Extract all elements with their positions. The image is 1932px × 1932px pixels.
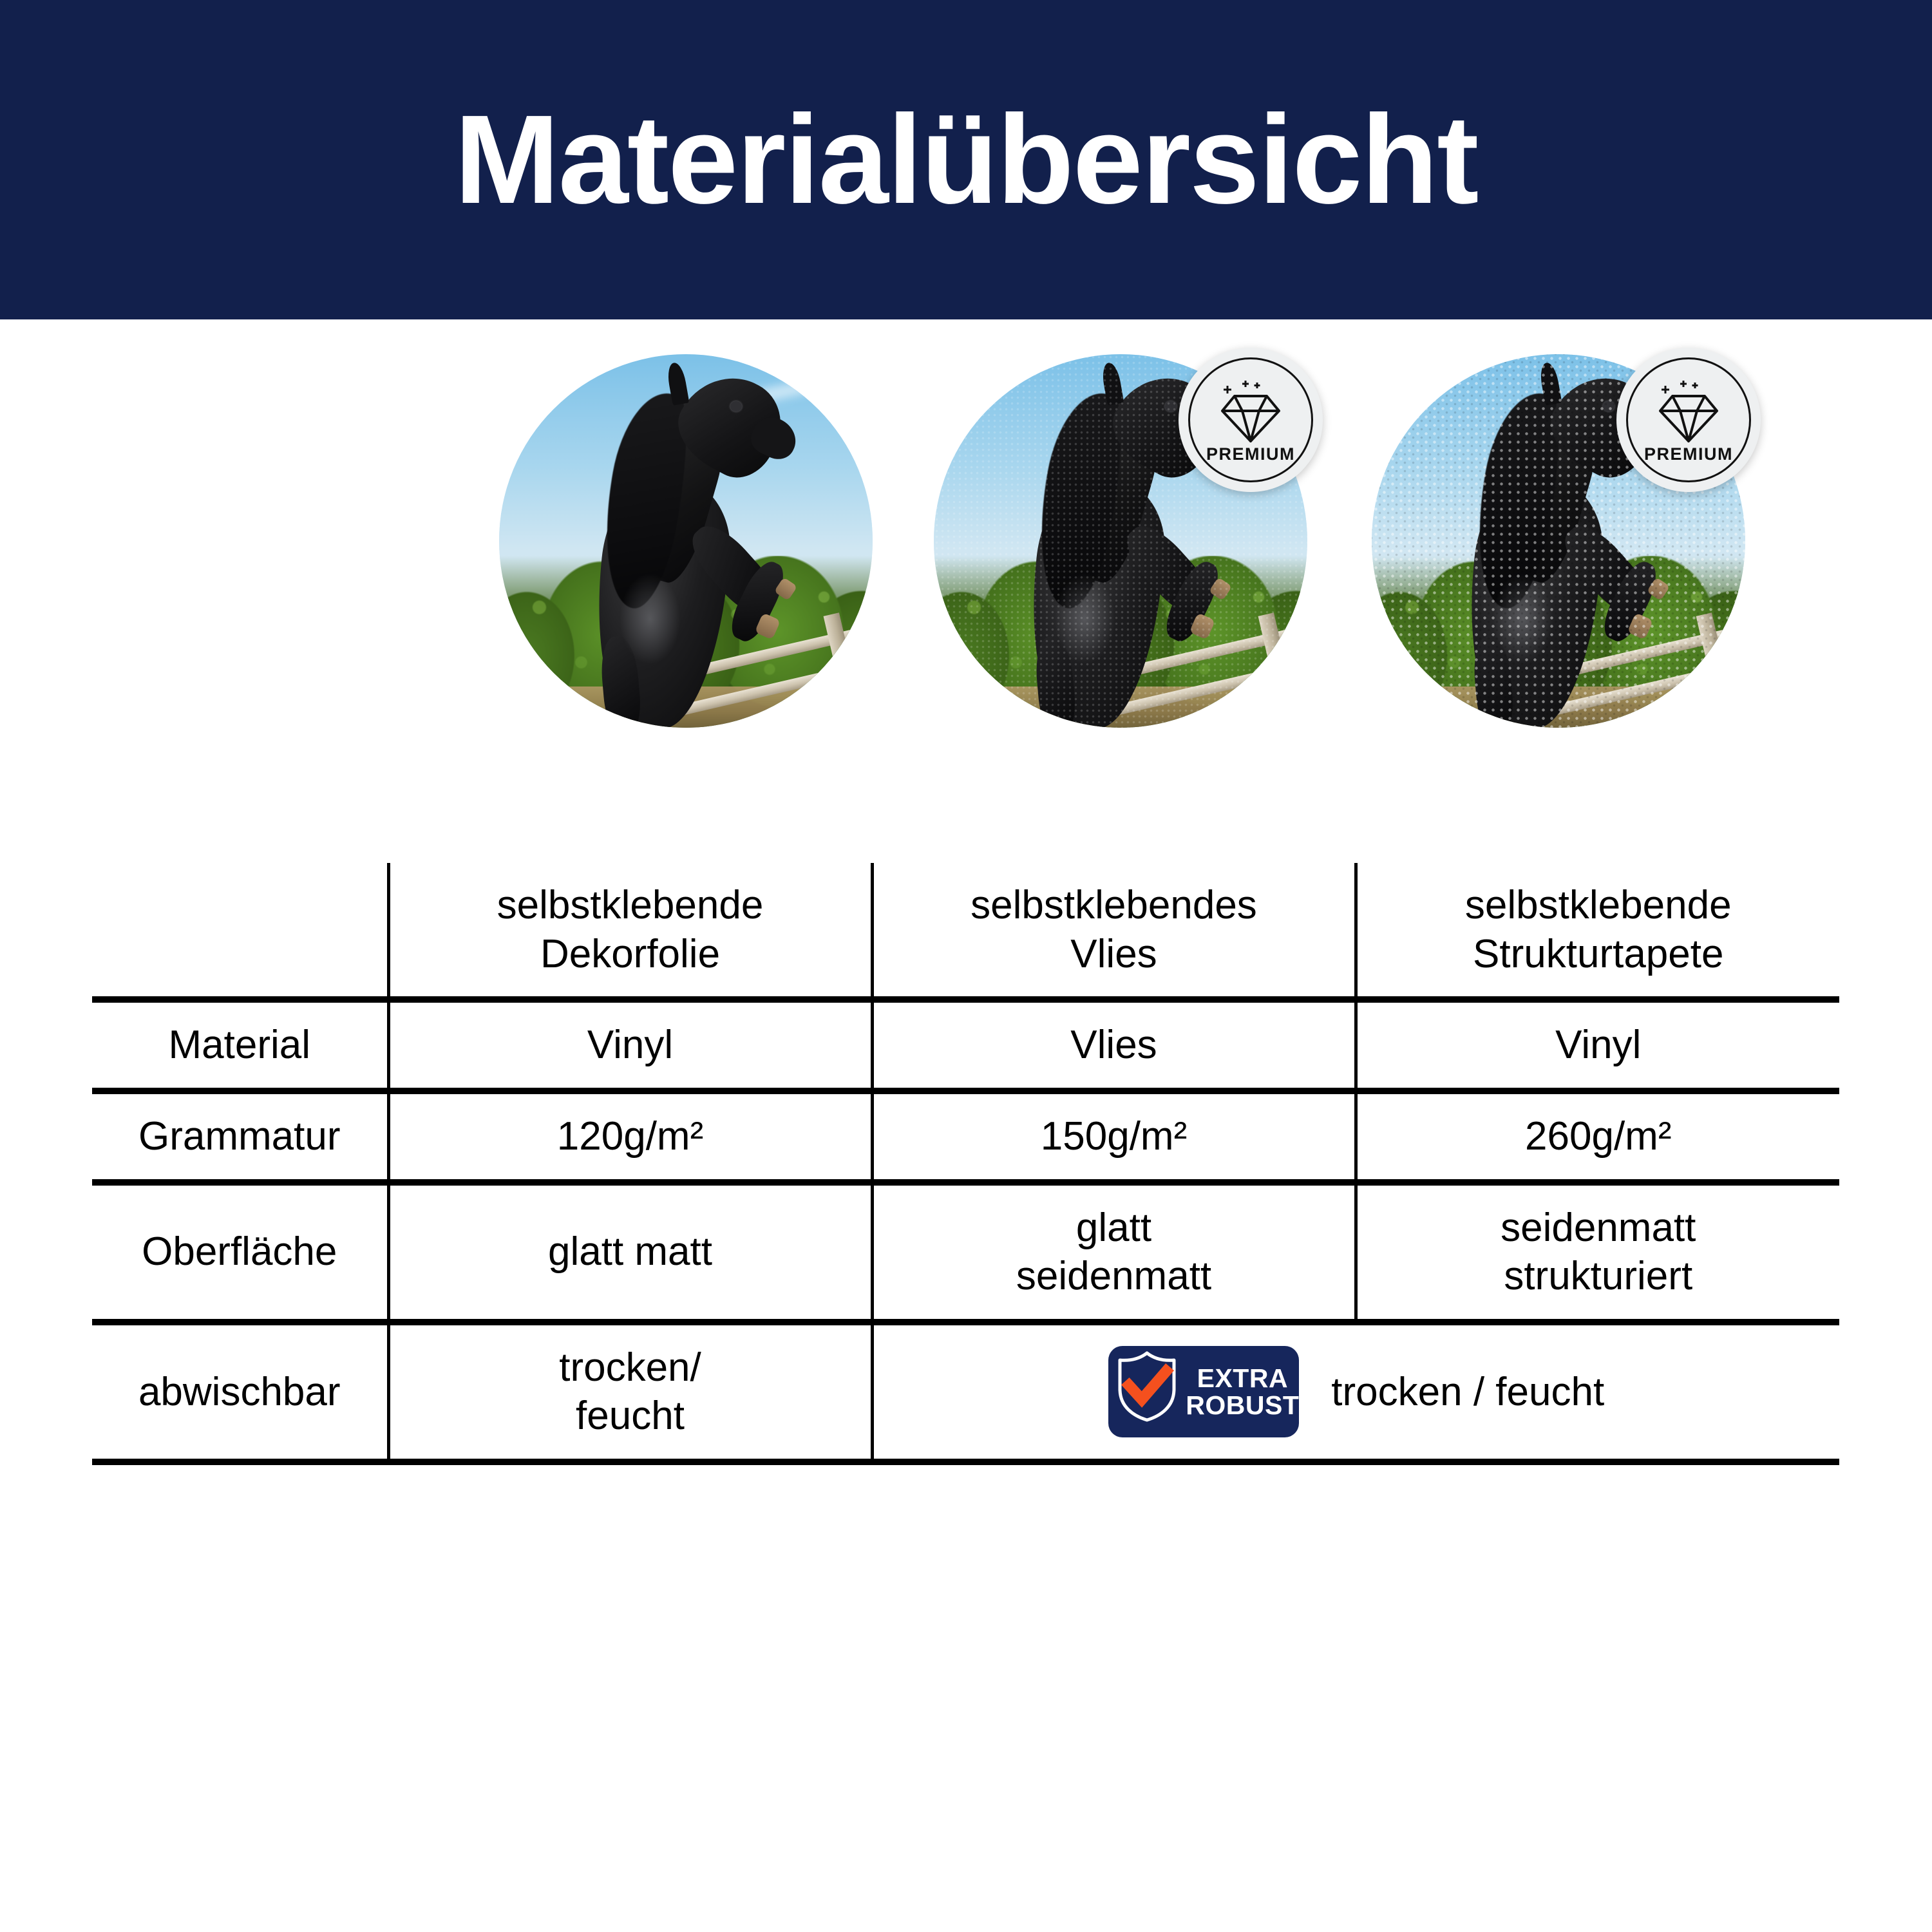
column-header-strukturtapete: selbstklebende Strukturtapete (1356, 863, 1839, 999)
table-row-grammatur: Grammatur 120g/m² 150g/m² 260g/m² (92, 1091, 1839, 1182)
cell-line: strukturiert (1369, 1252, 1828, 1301)
diamond-icon (1653, 377, 1725, 444)
cell-line: trocken/ (402, 1343, 859, 1392)
material-spec-table: selbstklebende Dekorfolie selbstklebende… (92, 863, 1839, 1465)
horse-figure (559, 377, 835, 728)
cell-abwischbar-merged-text: trocken / feucht (1331, 1368, 1604, 1417)
cell-material-dekorfolie: Vinyl (388, 999, 872, 1091)
table-header: selbstklebende Dekorfolie selbstklebende… (92, 863, 1839, 999)
cell-abwischbar-dekorfolie: trocken/ feucht (388, 1322, 872, 1462)
shield-check-icon (1115, 1349, 1179, 1435)
header-band: Materialübersicht (0, 0, 1932, 319)
cell-line: glatt (885, 1204, 1343, 1253)
premium-badge: PREMIUM (1616, 348, 1761, 492)
cell-material-vlies: Vlies (872, 999, 1356, 1091)
cell-oberflaeche-vlies: glatt seidenmatt (872, 1182, 1356, 1322)
row-label-abwischbar: abwischbar (92, 1322, 388, 1462)
header-spacer (92, 863, 388, 999)
horse-sheen (620, 573, 680, 665)
cell-line: seidenmatt (885, 1252, 1343, 1301)
column-header-dekorfolie: selbstklebende Dekorfolie (388, 863, 872, 999)
cell-oberflaeche-dekorfolie: glatt matt (388, 1182, 872, 1322)
cell-grammatur-strukturtapete: 260g/m² (1356, 1091, 1839, 1182)
horse-eye (730, 401, 742, 412)
extra-robust-line1: EXTRA (1186, 1365, 1299, 1392)
cell-grammatur-dekorfolie: 120g/m² (388, 1091, 872, 1182)
diamond-icon (1215, 377, 1287, 444)
table-row-material: Material Vinyl Vlies Vinyl (92, 999, 1839, 1091)
premium-badge-label: PREMIUM (1206, 446, 1295, 463)
sample-vlies[interactable]: PREMIUM (934, 354, 1307, 728)
horse-photo (499, 354, 873, 728)
column-header-line2: Dekorfolie (402, 930, 859, 979)
row-label-oberflaeche: Oberfläche (92, 1182, 388, 1322)
page-title: Materialübersicht (455, 97, 1478, 223)
material-overview-page: Materialübersicht (0, 0, 1932, 1932)
column-header-line2: Vlies (885, 930, 1343, 979)
table-header-row: selbstklebende Dekorfolie selbstklebende… (92, 863, 1839, 999)
column-header-line2: Strukturtapete (1369, 930, 1828, 979)
premium-badge: PREMIUM (1179, 348, 1323, 492)
row-label-material: Material (92, 999, 388, 1091)
premium-badge-label: PREMIUM (1644, 446, 1733, 463)
cell-abwischbar-merged: EXTRA ROBUST trocken / feucht (872, 1322, 1839, 1462)
column-header-line1: selbstklebende (1369, 881, 1828, 930)
sample-dekorfolie[interactable] (499, 354, 873, 728)
cell-material-strukturtapete: Vinyl (1356, 999, 1839, 1091)
cell-line: feucht (402, 1392, 859, 1441)
table-row-oberflaeche: Oberfläche glatt matt glatt seidenmatt s… (92, 1182, 1839, 1322)
material-samples-strip: PREMIUM (0, 348, 1932, 773)
extra-robust-badge: EXTRA ROBUST (1108, 1346, 1299, 1437)
column-header-vlies: selbstklebendes Vlies (872, 863, 1356, 999)
cell-grammatur-vlies: 150g/m² (872, 1091, 1356, 1182)
sample-image-dekorfolie (499, 354, 873, 728)
cell-line: seidenmatt (1369, 1204, 1828, 1253)
extra-robust-line2: ROBUST (1186, 1392, 1299, 1419)
column-header-line1: selbstklebendes (885, 881, 1343, 930)
sample-strukturtapete[interactable]: PREMIUM (1372, 354, 1745, 728)
column-header-line1: selbstklebende (402, 881, 859, 930)
cell-oberflaeche-strukturtapete: seidenmatt strukturiert (1356, 1182, 1839, 1322)
row-label-grammatur: Grammatur (92, 1091, 388, 1182)
table-row-abwischbar: abwischbar trocken/ feucht (92, 1322, 1839, 1462)
